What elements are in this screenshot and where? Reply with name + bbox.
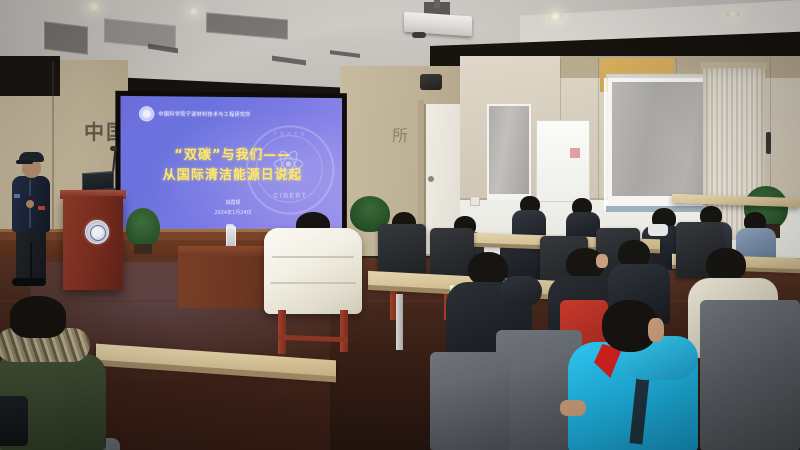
podium bbox=[63, 196, 123, 290]
white-down-jacket bbox=[264, 228, 362, 314]
presenter-shoes bbox=[12, 278, 46, 286]
ceiling-light bbox=[86, 2, 102, 11]
presenter bbox=[8, 150, 52, 290]
plant-pot bbox=[134, 244, 152, 254]
ceiling-light bbox=[188, 8, 200, 15]
potted-plant bbox=[126, 208, 160, 248]
student-cyan-jacket bbox=[560, 300, 710, 450]
presenter-logo-patch bbox=[38, 206, 45, 210]
curtain-handle[interactable] bbox=[766, 132, 771, 154]
person-green-parka bbox=[0, 296, 122, 450]
microphone-icon bbox=[110, 146, 117, 151]
presenter-leg-split bbox=[30, 242, 32, 282]
chair-leg bbox=[340, 310, 348, 352]
table-leg bbox=[396, 294, 403, 350]
projector-lens bbox=[412, 32, 426, 38]
podium-emblem-icon bbox=[85, 220, 109, 244]
jacket-seam bbox=[270, 282, 356, 284]
window-blind-far[interactable] bbox=[489, 106, 529, 194]
ceiling-light bbox=[726, 10, 740, 18]
slide-title-line2: 从国际清洁能源日说起 bbox=[121, 164, 343, 183]
wall-speaker-icon bbox=[420, 74, 442, 90]
person-head bbox=[10, 296, 66, 338]
slide-title-line1: “双碳”与我们—— bbox=[121, 144, 343, 163]
projector-arm bbox=[434, 0, 440, 8]
ceiling-light bbox=[548, 12, 563, 21]
ceiling-vent bbox=[44, 21, 88, 54]
audience-face bbox=[596, 254, 608, 268]
audience-hood bbox=[500, 276, 542, 306]
podium-emblem-inner bbox=[90, 225, 106, 241]
slide-header: 中国科学院宁波材料技术与工程研究所 bbox=[139, 106, 251, 122]
chair[interactable] bbox=[700, 300, 800, 450]
wall-calligraphy-right: 所 bbox=[392, 122, 408, 146]
wall-panel-seam bbox=[770, 58, 771, 198]
chair-leg bbox=[278, 310, 286, 354]
presenter-hand bbox=[26, 200, 34, 208]
institute-name: 中国科学院宁波材料技术与工程研究所 bbox=[158, 110, 250, 118]
institute-logo-icon bbox=[139, 106, 154, 121]
presenter-cap-brim bbox=[16, 160, 33, 164]
audience-face-mask bbox=[648, 224, 668, 236]
audience-head bbox=[706, 248, 746, 282]
student-hand bbox=[560, 400, 586, 416]
left-wall-shadow bbox=[0, 56, 60, 96]
chair[interactable] bbox=[430, 352, 510, 450]
slide-presenter: 姚霞银 bbox=[121, 199, 343, 207]
seal-arc-text: 中国科学院 bbox=[248, 131, 332, 137]
wall-panel-seam bbox=[598, 58, 599, 198]
jacket-seam bbox=[272, 256, 354, 258]
audience-head bbox=[468, 252, 508, 286]
presenter-badge bbox=[14, 194, 20, 198]
wall-socket-icon bbox=[470, 196, 480, 206]
student-face bbox=[648, 318, 664, 342]
whiteboard bbox=[536, 120, 590, 202]
lecture-hall-photo: 中国 所 中国科学院 CIBEB bbox=[0, 0, 800, 450]
door-knob-icon[interactable] bbox=[428, 176, 434, 182]
whiteboard-notice bbox=[570, 148, 580, 158]
bag bbox=[0, 396, 28, 446]
